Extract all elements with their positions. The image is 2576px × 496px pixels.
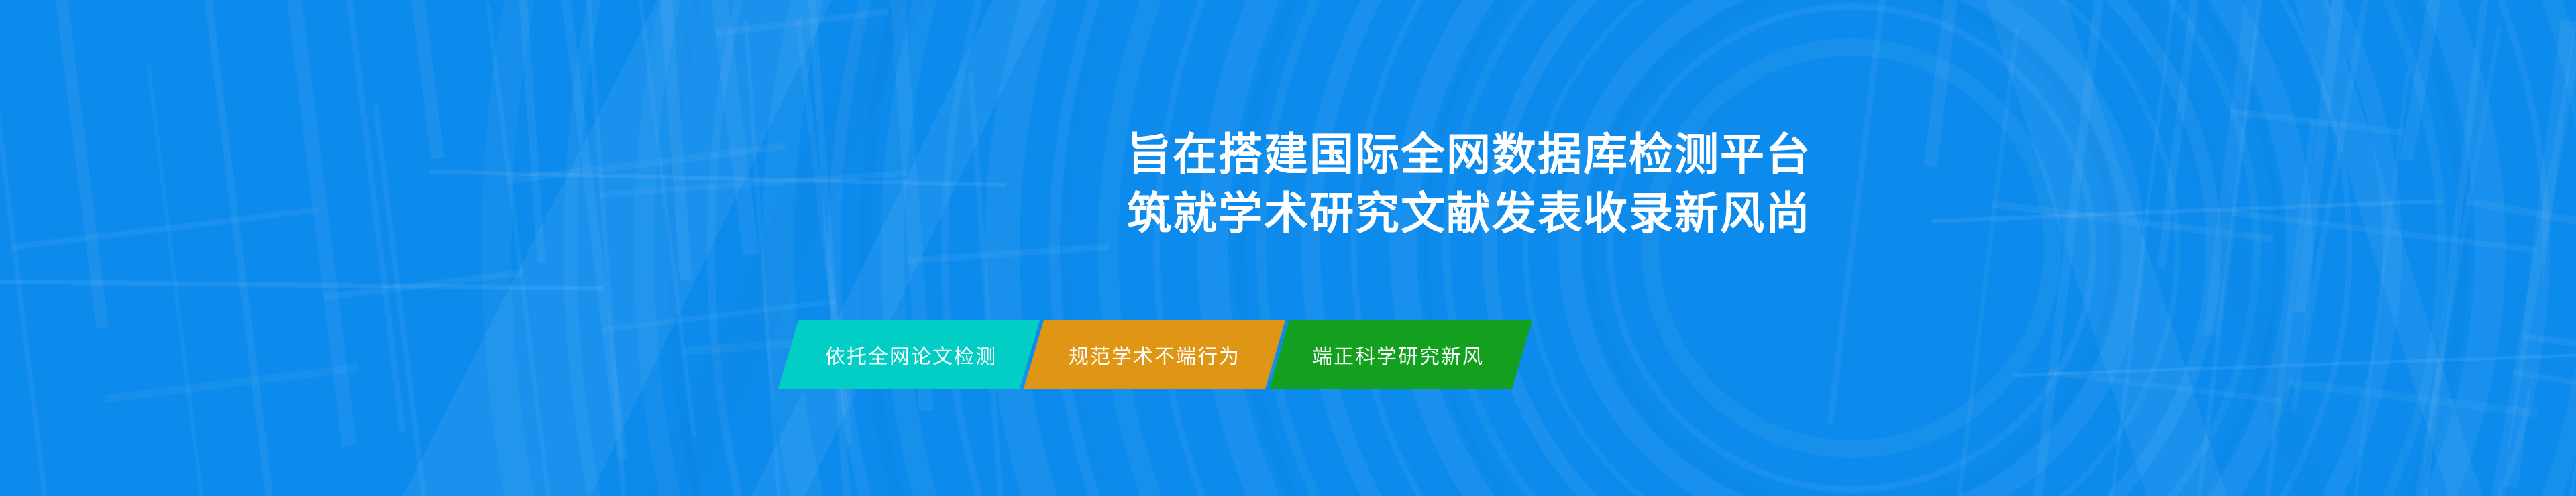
feature-tag-label: 依托全网论文检测 [825,340,997,369]
feature-tag-misconduct-regulation[interactable]: 规范学术不端行为 [1024,320,1285,389]
feature-tag-label: 端正科学研究新风 [1312,340,1484,369]
promo-banner: 旨在搭建国际全网数据库检测平台 筑就学术研究文献发表收录新风尚 依托全网论文检测… [0,0,2576,496]
feature-tag-label: 规范学术不端行为 [1069,340,1240,369]
background-tech-artwork [0,0,2576,496]
feature-tag-paper-detection[interactable]: 依托全网论文检测 [778,320,1040,389]
feature-tag-research-integrity[interactable]: 端正科学研究新风 [1269,320,1532,389]
feature-tag-row: 依托全网论文检测 规范学术不端行为 端正科学研究新风 [778,320,1532,389]
